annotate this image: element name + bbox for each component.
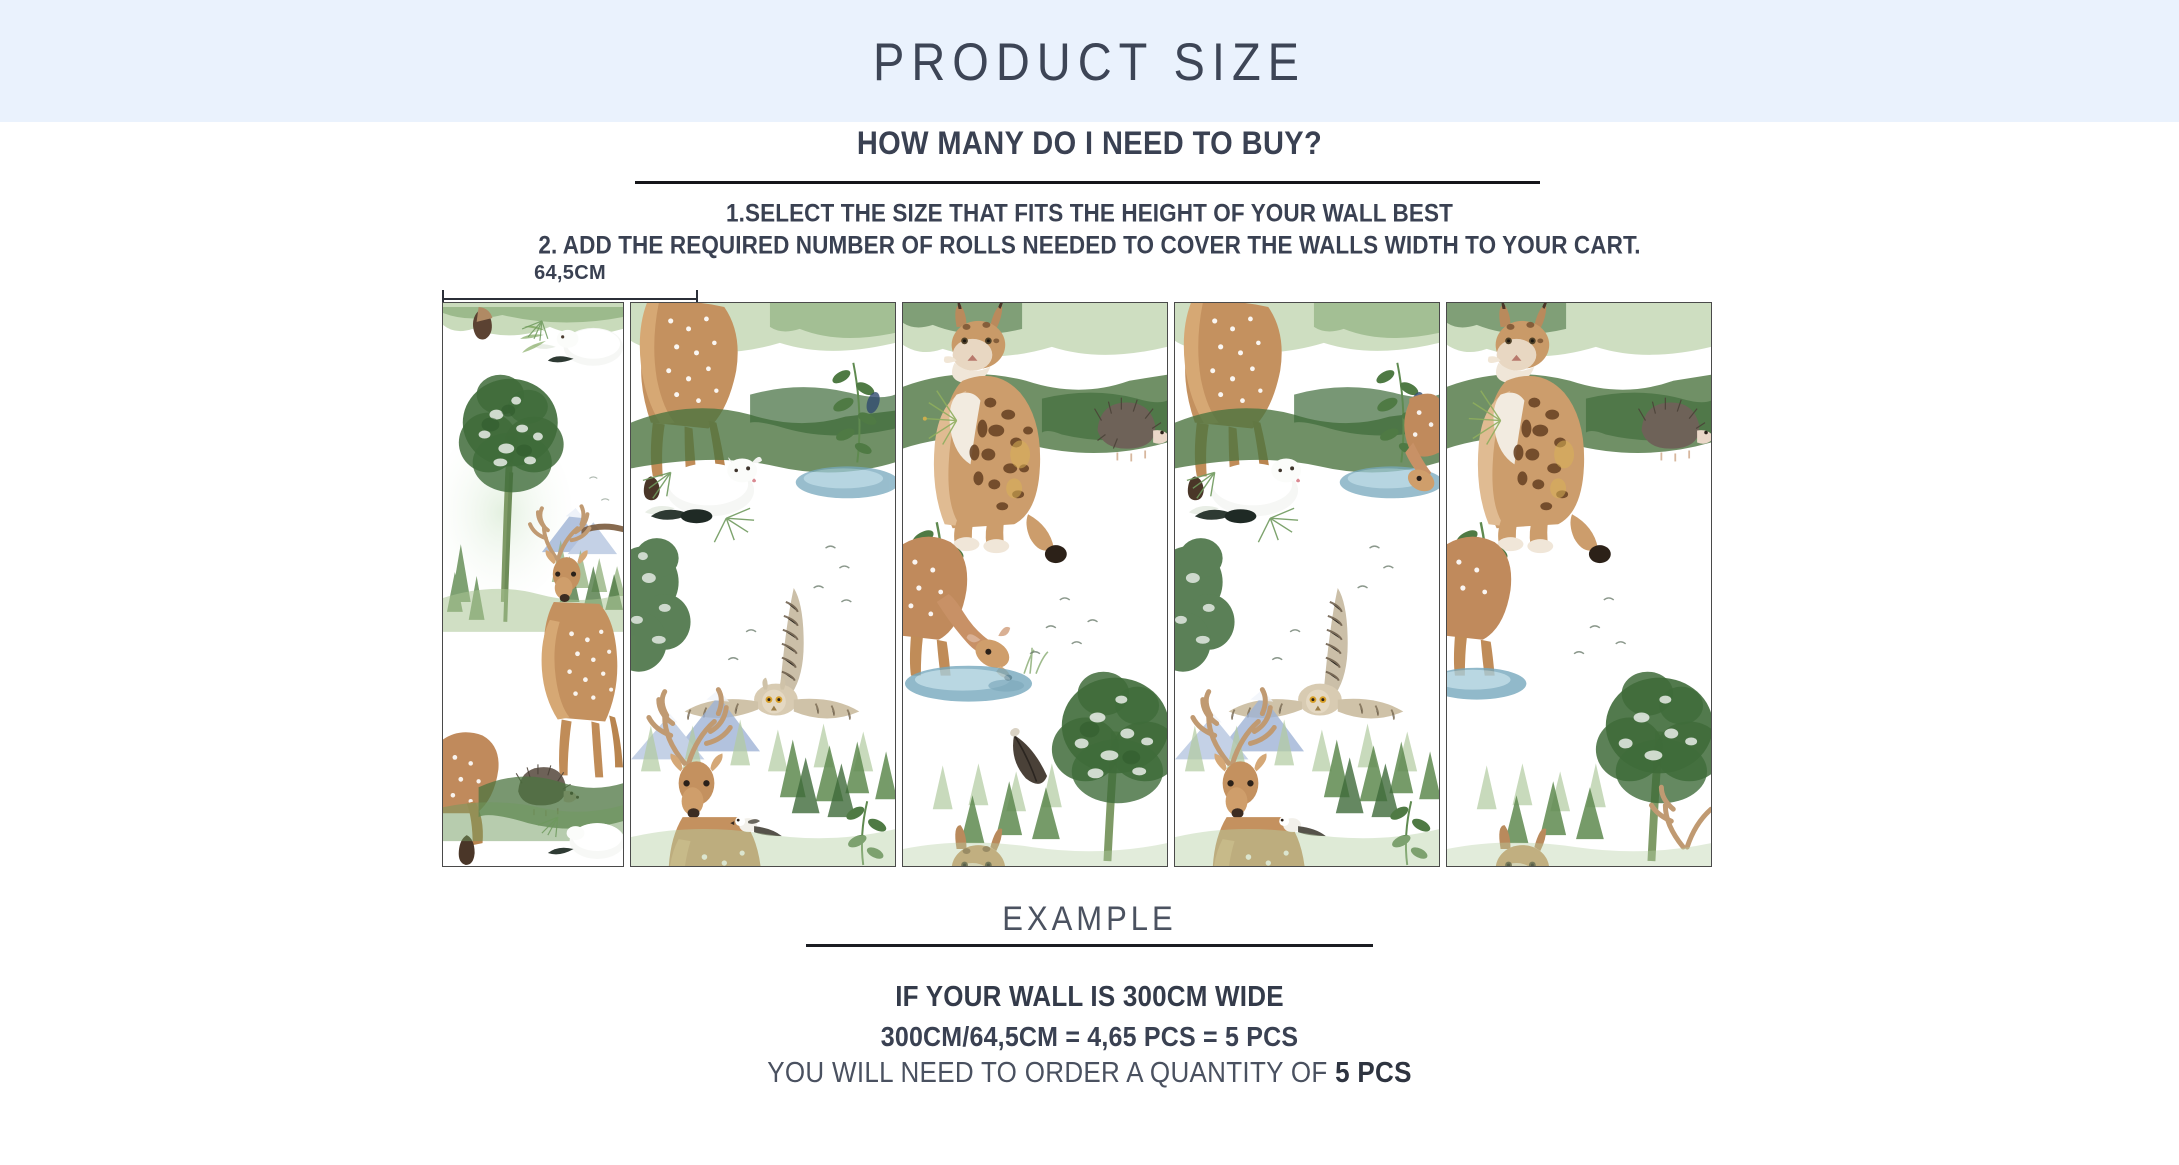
example-divider <box>806 944 1373 947</box>
wallpaper-roll-1[interactable] <box>442 302 624 867</box>
roll-width-measurement: 64,5CM <box>442 262 698 304</box>
wallpaper-roll-2[interactable] <box>630 302 896 867</box>
example-wall-width: IF YOUR WALL IS 300CM WIDE <box>0 972 2179 1019</box>
intro-section: HOW MANY DO I NEED TO BUY? <box>0 128 2179 161</box>
measurement-bar <box>442 298 698 300</box>
roll-5-artwork <box>1447 303 1711 866</box>
page-title: PRODUCT SIZE <box>873 30 1306 92</box>
roll-3-artwork <box>903 303 1167 866</box>
page-header-band: PRODUCT SIZE <box>0 0 2179 122</box>
wallpaper-panel-row <box>442 302 1740 867</box>
example-heading: EXAMPLE <box>0 899 2179 939</box>
example-conclusion-quantity: 5 PCS <box>1335 1055 1412 1088</box>
example-body: IF YOUR WALL IS 300CM WIDE 300CM/64,5CM … <box>0 975 2179 1057</box>
intro-heading: HOW MANY DO I NEED TO BUY? <box>857 126 1322 163</box>
intro-instruction-list: 1.SELECT THE SIZE THAT FITS THE HEIGHT O… <box>0 198 2179 262</box>
roll-2-artwork <box>631 303 895 866</box>
instruction-step-1: 1.SELECT THE SIZE THAT FITS THE HEIGHT O… <box>0 196 2179 231</box>
intro-divider <box>635 181 1540 184</box>
example-conclusion-prefix: YOU WILL NEED TO ORDER A QUANTITY OF <box>767 1055 1335 1088</box>
roll-1-artwork <box>443 303 623 866</box>
example-calculation: 300CM/64,5CM = 4,65 PCS = 5 PCS <box>0 1015 2179 1060</box>
wallpaper-roll-5[interactable] <box>1446 302 1712 867</box>
roll-4-artwork <box>1175 303 1439 866</box>
instruction-step-2: 2. ADD THE REQUIRED NUMBER OF ROLLS NEED… <box>0 228 2179 263</box>
roll-width-label: 64,5CM <box>442 262 698 285</box>
example-conclusion: YOU WILL NEED TO ORDER A QUANTITY OF 5 P… <box>0 1055 2179 1089</box>
wallpaper-roll-4[interactable] <box>1174 302 1440 867</box>
wallpaper-roll-3[interactable] <box>902 302 1168 867</box>
